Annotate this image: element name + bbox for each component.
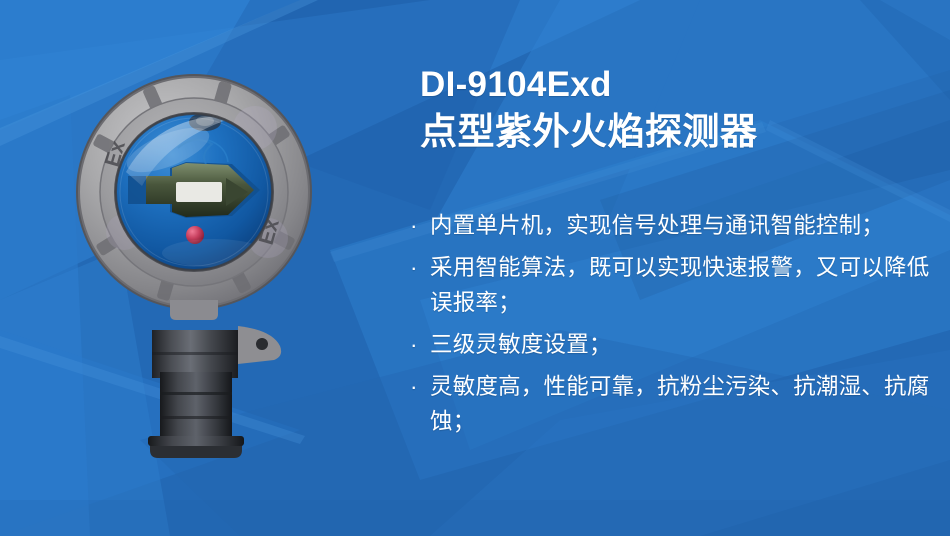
feature-text: 内置单片机，实现信号处理与通讯智能控制； (430, 208, 942, 243)
feature-list: · 内置单片机，实现信号处理与通讯智能控制； · 采用智能算法，既可以实现快速报… (408, 208, 942, 439)
feature-text: 三级灵敏度设置； (430, 327, 942, 362)
feature-text: 灵敏度高，性能可靠，抗粉尘污染、抗潮湿、抗腐蚀； (430, 369, 942, 439)
feature-list-item: · 内置单片机，实现信号处理与通讯智能控制； (408, 208, 942, 243)
product-name-subtitle: 点型紫外火焰探测器 (420, 108, 942, 156)
bullet-marker-icon: · (410, 250, 418, 285)
feature-text: 采用智能算法，既可以实现快速报警，又可以降低误报率； (430, 250, 942, 320)
feature-list-item: · 三级灵敏度设置； (408, 327, 942, 362)
text-content-column: DI-9104Exd 点型紫外火焰探测器 · 内置单片机，实现信号处理与通讯智能… (408, 62, 942, 446)
feature-list-item: · 采用智能算法，既可以实现快速报警，又可以降低误报率； (408, 250, 942, 320)
bullet-marker-icon: · (410, 208, 418, 243)
product-model-title: DI-9104Exd (420, 62, 942, 108)
bullet-marker-icon: · (410, 327, 418, 362)
bullet-marker-icon: · (410, 369, 418, 404)
feature-list-item: · 灵敏度高，性能可靠，抗粉尘污染、抗潮湿、抗腐蚀； (408, 369, 942, 439)
product-slide: Ex Ex (0, 0, 950, 536)
